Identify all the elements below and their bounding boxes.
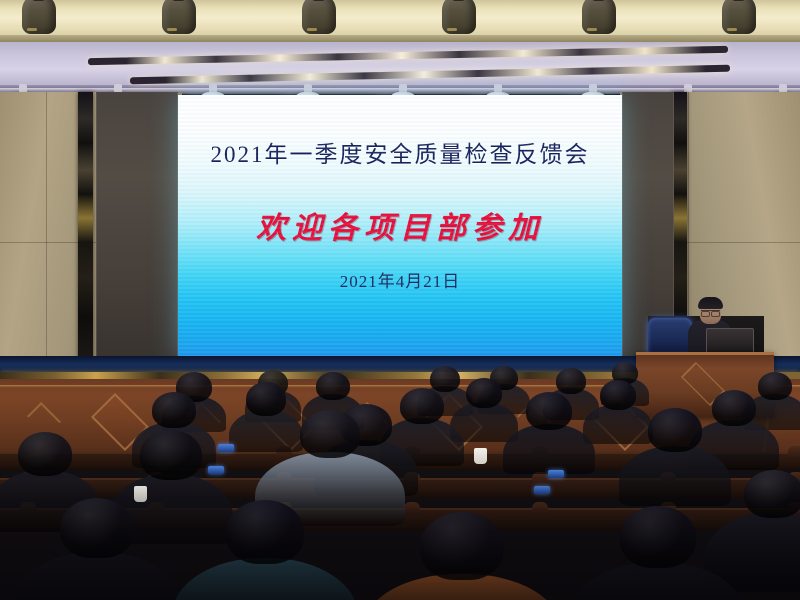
attendee-head (316, 372, 350, 400)
attendee-head (18, 432, 72, 476)
attendee-head (600, 380, 636, 410)
attendee-shoulders (503, 424, 595, 474)
attendee-head (152, 392, 196, 428)
attendee-head (556, 368, 586, 394)
bench-armrest (404, 502, 420, 515)
slide-welcome-text: 欢迎各项目部参加 (178, 203, 622, 247)
paper-cup (474, 448, 487, 464)
attendee-head (430, 366, 460, 392)
phone-screen (534, 486, 550, 494)
paper-cup (134, 486, 147, 502)
phone-screen (218, 444, 234, 452)
attendee-head (526, 392, 572, 430)
attendee-head (466, 378, 502, 408)
hanging-stage-lamp (22, 0, 56, 34)
phone-screen (548, 470, 564, 478)
attendee-head (400, 388, 444, 424)
wood-chevron-inlay (27, 402, 61, 436)
glasses-icon (701, 310, 720, 315)
attendee-shoulders (583, 404, 653, 444)
hanging-stage-lamp (722, 0, 756, 34)
phone-screen (208, 466, 224, 474)
attendee-head (226, 500, 304, 564)
hanging-stage-lamp (302, 0, 336, 34)
attendee-head (758, 372, 792, 400)
attendee-head (60, 498, 134, 558)
bench-armrest (788, 446, 800, 459)
hanging-stage-lamp (582, 0, 616, 34)
presenter-hair (698, 297, 723, 309)
attendee-shoulders (619, 446, 731, 506)
slide-title: 2021年一季度安全质量检查反馈会 (178, 135, 622, 169)
attendee-head (420, 512, 504, 580)
attendee-head (300, 410, 360, 458)
attendee-head (246, 382, 286, 416)
chair-backrest (648, 318, 692, 354)
attendee-head (712, 390, 756, 426)
attendee-shoulders (12, 552, 182, 600)
hanging-stage-lamp (162, 0, 196, 34)
attendee-head (140, 430, 202, 480)
conference-hall-photo: 2021年一季度安全质量检查反馈会 欢迎各项目部参加 2021年4月21日 (0, 0, 800, 600)
slide-date: 2021年4月21日 (178, 267, 622, 292)
attendee-head (744, 470, 800, 518)
mirrored-wall-strip (78, 92, 93, 392)
hanging-stage-lamp (442, 0, 476, 34)
ceiling-warm-cove (0, 0, 800, 42)
attendee-shoulders (229, 410, 303, 452)
attendee-shoulders (172, 558, 358, 600)
dark-acoustic-panel (96, 92, 178, 392)
projection-screen: 2021年一季度安全质量检查反馈会 欢迎各项目部参加 2021年4月21日 (178, 95, 622, 358)
bench-armrest (532, 502, 548, 515)
attendee-head (648, 408, 702, 452)
attendee-head (620, 506, 696, 568)
